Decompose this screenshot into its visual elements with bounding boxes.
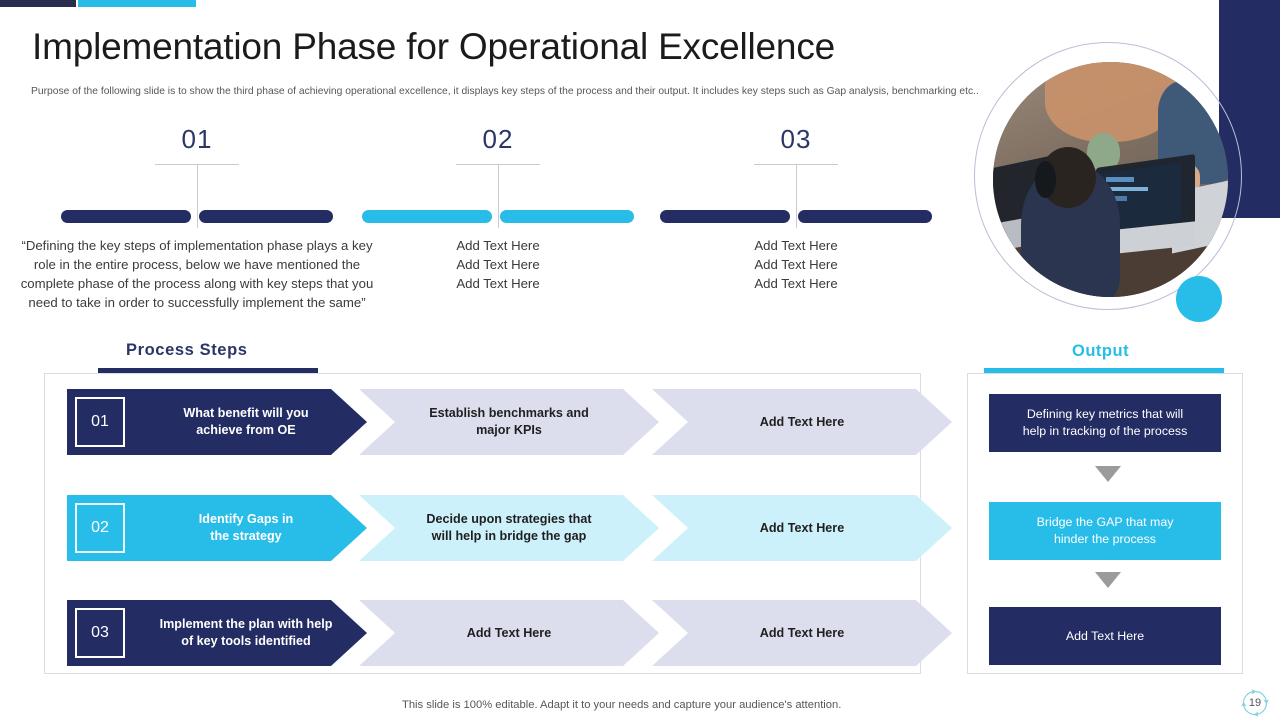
process-row-02: Identify Gaps in the strategy 02 Decide … [67, 495, 912, 561]
process-steps-heading: Process Steps [126, 341, 248, 360]
page-number-badge: 19 [1240, 688, 1270, 718]
process-row-badge: 01 [75, 397, 125, 447]
process-row-03: Implement the plan with help of key tool… [67, 600, 912, 666]
top-step-03: 03 Add Text Here Add Text Here Add Text … [695, 126, 897, 152]
process-cell[interactable]: Add Text Here [652, 389, 952, 455]
top-step-bars [660, 210, 932, 223]
top-steps-group: 01 “Defining the key steps of implementa… [0, 0, 960, 340]
output-box[interactable]: Bridge the GAP that may hinder the proce… [989, 502, 1221, 560]
bar-segment-right [798, 210, 932, 223]
process-cell[interactable]: Decide upon strategies that will help in… [359, 495, 659, 561]
process-cell[interactable]: Add Text Here [359, 600, 659, 666]
output-heading: Output [1072, 342, 1129, 361]
process-cell-label: Establish benchmarks and major KPIs [429, 405, 589, 439]
top-step-01: 01 “Defining the key steps of implementa… [96, 126, 298, 152]
process-cell-label: Identify Gaps in the strategy [141, 511, 293, 545]
top-step-number: 01 [96, 126, 298, 152]
footer-note: This slide is 100% editable. Adapt it to… [402, 699, 841, 711]
output-box[interactable]: Add Text Here [989, 607, 1221, 665]
team-photo [993, 62, 1228, 297]
bar-segment-right [500, 210, 634, 223]
process-cell[interactable]: Establish benchmarks and major KPIs [359, 389, 659, 455]
process-steps-panel: What benefit will you achieve from OE 01… [44, 373, 921, 674]
output-panel: Defining key metrics that will help in t… [967, 373, 1243, 674]
process-cell-label: Add Text Here [760, 414, 844, 431]
process-row-badge: 03 [75, 608, 125, 658]
page-number-text: 19 [1240, 688, 1270, 718]
top-step-bars [61, 210, 333, 223]
arrow-down-icon [1095, 466, 1121, 482]
bar-segment-left [61, 210, 191, 223]
bar-segment-left [660, 210, 790, 223]
top-step-number: 03 [695, 126, 897, 152]
process-cell-label: Add Text Here [760, 520, 844, 537]
process-cell-label: Implement the plan with help of key tool… [102, 616, 333, 650]
process-cell-label: Decide upon strategies that will help in… [426, 511, 591, 545]
process-cell-label: Add Text Here [760, 625, 844, 642]
top-step-body: Add Text Here Add Text Here Add Text Her… [696, 236, 896, 293]
top-step-body: “Defining the key steps of implementatio… [17, 236, 377, 312]
top-step-bars [362, 210, 634, 223]
output-box[interactable]: Defining key metrics that will help in t… [989, 394, 1221, 452]
top-step-number: 02 [397, 126, 599, 152]
top-step-body: Add Text Here Add Text Here Add Text Her… [398, 236, 598, 293]
process-cell[interactable]: Add Text Here [652, 600, 952, 666]
process-cell[interactable]: Add Text Here [652, 495, 952, 561]
top-step-02: 02 Add Text Here Add Text Here Add Text … [397, 126, 599, 152]
bar-segment-right [199, 210, 333, 223]
process-cell-label: Add Text Here [467, 625, 551, 642]
cyan-accent-dot [1176, 276, 1222, 322]
process-row-01: What benefit will you achieve from OE 01… [67, 389, 912, 455]
process-row-badge: 02 [75, 503, 125, 553]
process-cell-label: What benefit will you achieve from OE [125, 405, 308, 439]
bar-segment-left [362, 210, 492, 223]
arrow-down-icon [1095, 572, 1121, 588]
